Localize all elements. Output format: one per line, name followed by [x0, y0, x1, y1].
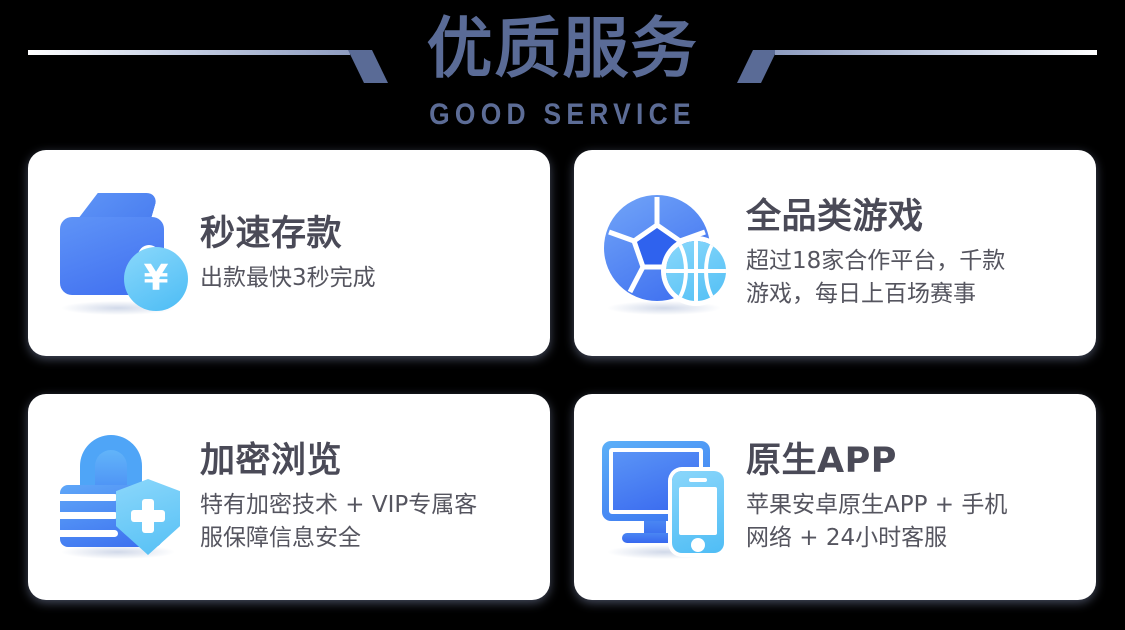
card-subtitle-line: 服保障信息安全 — [200, 522, 534, 555]
icon-shadow — [62, 545, 174, 559]
service-card-encryption[interactable]: 加密浏览 特有加密技术 + VIP专属客 服保障信息安全 — [28, 394, 550, 600]
card-subtitle-line: 游戏，每日上百场赛事 — [746, 278, 1080, 311]
card-subtitle-line: 超过18家合作平台，千款 — [746, 245, 1080, 278]
phone-home-button-shape — [691, 538, 705, 552]
monitor-phone-icon — [596, 427, 746, 567]
lock-stripe — [60, 530, 118, 537]
card-subtitle: 超过18家合作平台，千款 游戏，每日上百场赛事 — [746, 245, 1080, 311]
icon-shadow — [608, 301, 720, 315]
page-subtitle: GOOD SERVICE — [68, 98, 1058, 132]
page-title: 优质服务 — [0, 4, 1125, 94]
card-subtitle-line: 特有加密技术 + VIP专属客 — [200, 489, 534, 522]
card-subtitle: 苹果安卓原生APP + 手机 网络 + 24小时客服 — [746, 489, 1080, 555]
service-card-deposit[interactable]: ¥ 秒速存款 出款最快3秒完成 — [28, 150, 550, 356]
card-title: 原生APP — [746, 439, 1080, 483]
phone-speaker-shape — [689, 478, 707, 482]
basketball-icon — [666, 241, 726, 301]
lock-shield-icon — [50, 427, 200, 567]
card-text-block: 原生APP 苹果安卓原生APP + 手机 网络 + 24小时客服 — [746, 439, 1096, 555]
card-text-block: 全品类游戏 超过18家合作平台，千款 游戏，每日上百场赛事 — [746, 195, 1096, 311]
basketball-curve-left — [666, 241, 688, 301]
card-subtitle-line: 网络 + 24小时客服 — [746, 522, 1080, 555]
card-title: 秒速存款 — [200, 212, 534, 256]
phone-icon — [672, 471, 724, 553]
service-card-native-app[interactable]: 原生APP 苹果安卓原生APP + 手机 网络 + 24小时客服 — [574, 394, 1096, 600]
card-text-block: 加密浏览 特有加密技术 + VIP专属客 服保障信息安全 — [200, 439, 550, 555]
service-card-grid: ¥ 秒速存款 出款最快3秒完成 — [28, 150, 1096, 600]
soccer-basketball-icon — [596, 183, 746, 323]
card-subtitle-line: 苹果安卓原生APP + 手机 — [746, 489, 1080, 522]
shield-cross-icon — [131, 510, 165, 522]
service-card-games[interactable]: 全品类游戏 超过18家合作平台，千款 游戏，每日上百场赛事 — [574, 150, 1096, 356]
wallet-yen-icon: ¥ — [50, 183, 200, 323]
basketball-curve-right — [704, 241, 726, 301]
yen-coin-icon: ¥ — [124, 247, 188, 311]
card-subtitle: 特有加密技术 + VIP专属客 服保障信息安全 — [200, 489, 534, 555]
lock-stripe — [60, 494, 118, 501]
card-subtitle-line: 出款最快3秒完成 — [200, 262, 534, 295]
card-title: 加密浏览 — [200, 439, 534, 483]
card-subtitle: 出款最快3秒完成 — [200, 262, 534, 295]
card-title: 全品类游戏 — [746, 195, 1080, 239]
phone-screen-shape — [679, 487, 717, 535]
card-text-block: 秒速存款 出款最快3秒完成 — [200, 212, 550, 295]
lock-stripe — [60, 512, 118, 519]
page-header: 优质服务 GOOD SERVICE — [0, 0, 1125, 140]
